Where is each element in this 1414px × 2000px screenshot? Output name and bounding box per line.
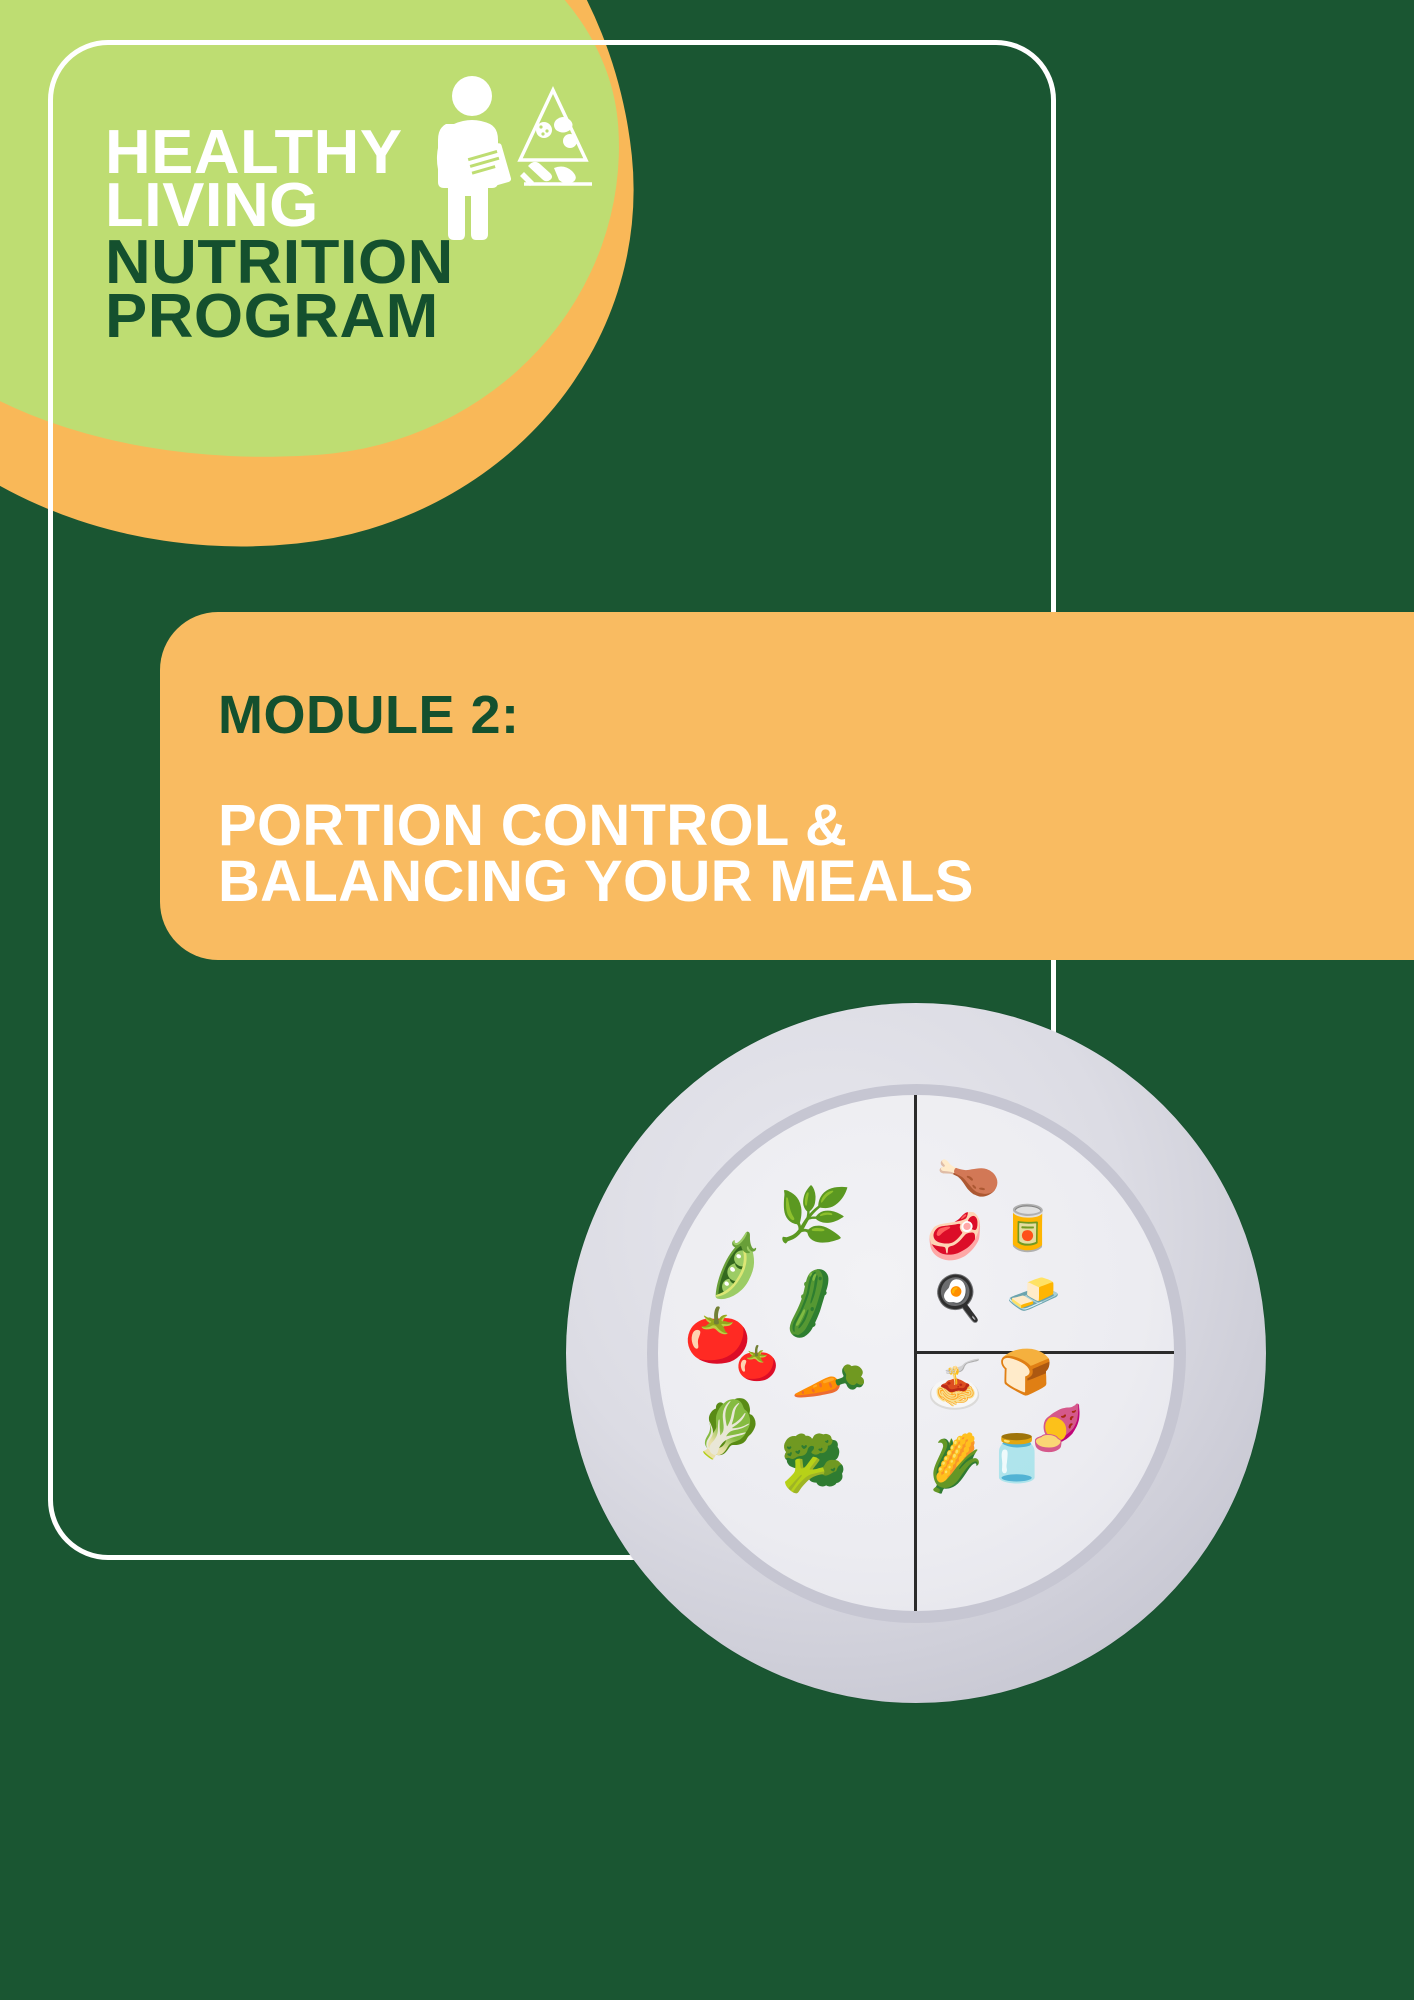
food-lettuce-icon: 🥬: [694, 1401, 764, 1457]
program-logo-wordmark: HEALTHY LIVING NUTRITION PROGRAM: [105, 128, 665, 343]
food-steak-icon: 🥩: [926, 1213, 983, 1259]
food-peas-icon: 🫛: [696, 1233, 774, 1302]
logo-line-nutrition: NUTRITION: [105, 238, 676, 289]
food-carrot-icon: 🥕: [791, 1347, 874, 1422]
logo-line-program: PROGRAM: [105, 292, 676, 343]
food-chicken-drumstick-icon: 🍗: [934, 1144, 1005, 1209]
food-pasta-icon: 🍝: [926, 1361, 983, 1407]
food-cherry-tomatoes-icon: 🍅: [736, 1347, 778, 1381]
balanced-meal-plate-illustration: 🫛 🌿 🥒 🍅 🍅 🥕 🥬 🥦 🍗 🥩 🥫 🍳 🧈 🍝 🍞 🍠 🌽 🫙: [566, 1003, 1266, 1703]
food-broccoli-icon: 🥦: [780, 1437, 847, 1491]
food-eggs-icon: 🍳: [930, 1277, 985, 1321]
food-cucumber-icon: 🥒: [768, 1265, 853, 1344]
food-asparagus-icon: 🌿: [773, 1183, 853, 1250]
module-title-line-2: BALANCING YOUR MEALS: [218, 854, 1098, 910]
module-cover-page: HEALTHY LIVING NUTRITION PROGRAM MODULE …: [0, 0, 1414, 2000]
food-canned-tuna-icon: 🥫: [1000, 1207, 1055, 1251]
module-title-line-1: PORTION CONTROL &: [218, 798, 1098, 854]
logo-line-living: LIVING: [105, 181, 676, 232]
plate-surface: 🫛 🌿 🥒 🍅 🍅 🥕 🥬 🥦 🍗 🥩 🥫 🍳 🧈 🍝 🍞 🍠 🌽 🫙: [658, 1095, 1173, 1610]
module-number-label: MODULE 2:: [218, 688, 1414, 742]
food-corn-icon: 🌽: [919, 1435, 989, 1496]
food-flour-sack-icon: 🫙: [988, 1435, 1045, 1481]
module-title-text: PORTION CONTROL & BALANCING YOUR MEALS: [218, 798, 1098, 909]
module-title-banner: MODULE 2: PORTION CONTROL & BALANCING YO…: [160, 612, 1414, 960]
food-bread-slice-icon: 🍞: [998, 1351, 1053, 1395]
food-tofu-icon: 🧈: [1006, 1273, 1061, 1317]
